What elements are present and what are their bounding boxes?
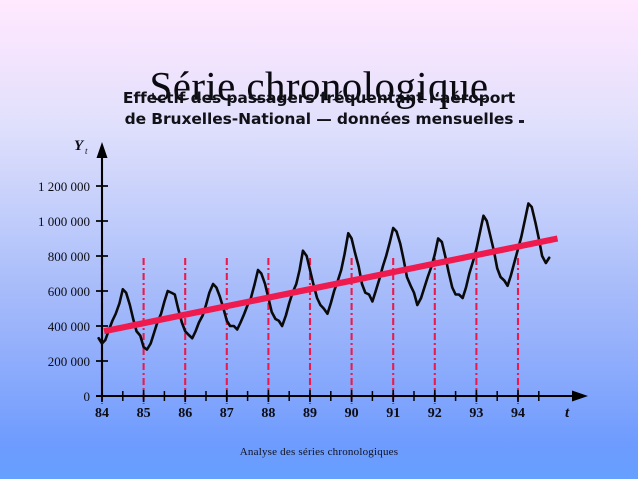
year-marker-group <box>102 258 518 404</box>
slide: Série chronologique Effectif des passage… <box>0 0 638 479</box>
y-tick-label: 400 000 <box>48 319 90 334</box>
y-axis-label: Y <box>74 138 85 154</box>
y-axis-label-subscript: t <box>85 146 88 156</box>
x-tick-label: 89 <box>303 406 317 421</box>
x-tick-label: 86 <box>178 406 192 421</box>
x-tick-label: 85 <box>137 406 151 421</box>
y-tick-label: 0 <box>84 389 91 404</box>
x-tick-label: 94 <box>511 406 525 421</box>
x-axis-arrowhead <box>572 391 588 402</box>
trend-line <box>104 239 557 332</box>
series-group <box>99 204 558 350</box>
y-tick-label: 1 000 000 <box>38 214 90 229</box>
passenger-series-line <box>99 204 550 350</box>
x-tick-label: 87 <box>220 406 234 421</box>
y-tick-label: 200 000 <box>48 354 90 369</box>
slide-caption: Analyse des séries chronologiques <box>0 446 638 458</box>
y-tick-label: 800 000 <box>48 249 90 264</box>
y-tick-label-group: 0200 000400 000600 000800 0001 000 0001 … <box>38 179 90 404</box>
y-tick-label: 1 200 000 <box>38 179 90 194</box>
y-axis-arrowhead <box>97 142 108 158</box>
x-tick-label: 91 <box>386 406 400 421</box>
y-tick-label: 600 000 <box>48 284 90 299</box>
axis-name-group: Y t t <box>74 138 570 421</box>
x-tick-label: 90 <box>345 406 359 421</box>
time-series-chart: 0200 000400 000600 000800 0001 000 0001 … <box>0 0 638 479</box>
x-tick-label: 84 <box>95 406 109 421</box>
x-tick-label-group: 8485868788899091929394 <box>95 406 525 421</box>
x-tick-label: 92 <box>428 406 442 421</box>
x-tick-label: 88 <box>261 406 275 421</box>
x-tick-label: 93 <box>469 406 483 421</box>
x-axis-label: t <box>565 405 570 421</box>
